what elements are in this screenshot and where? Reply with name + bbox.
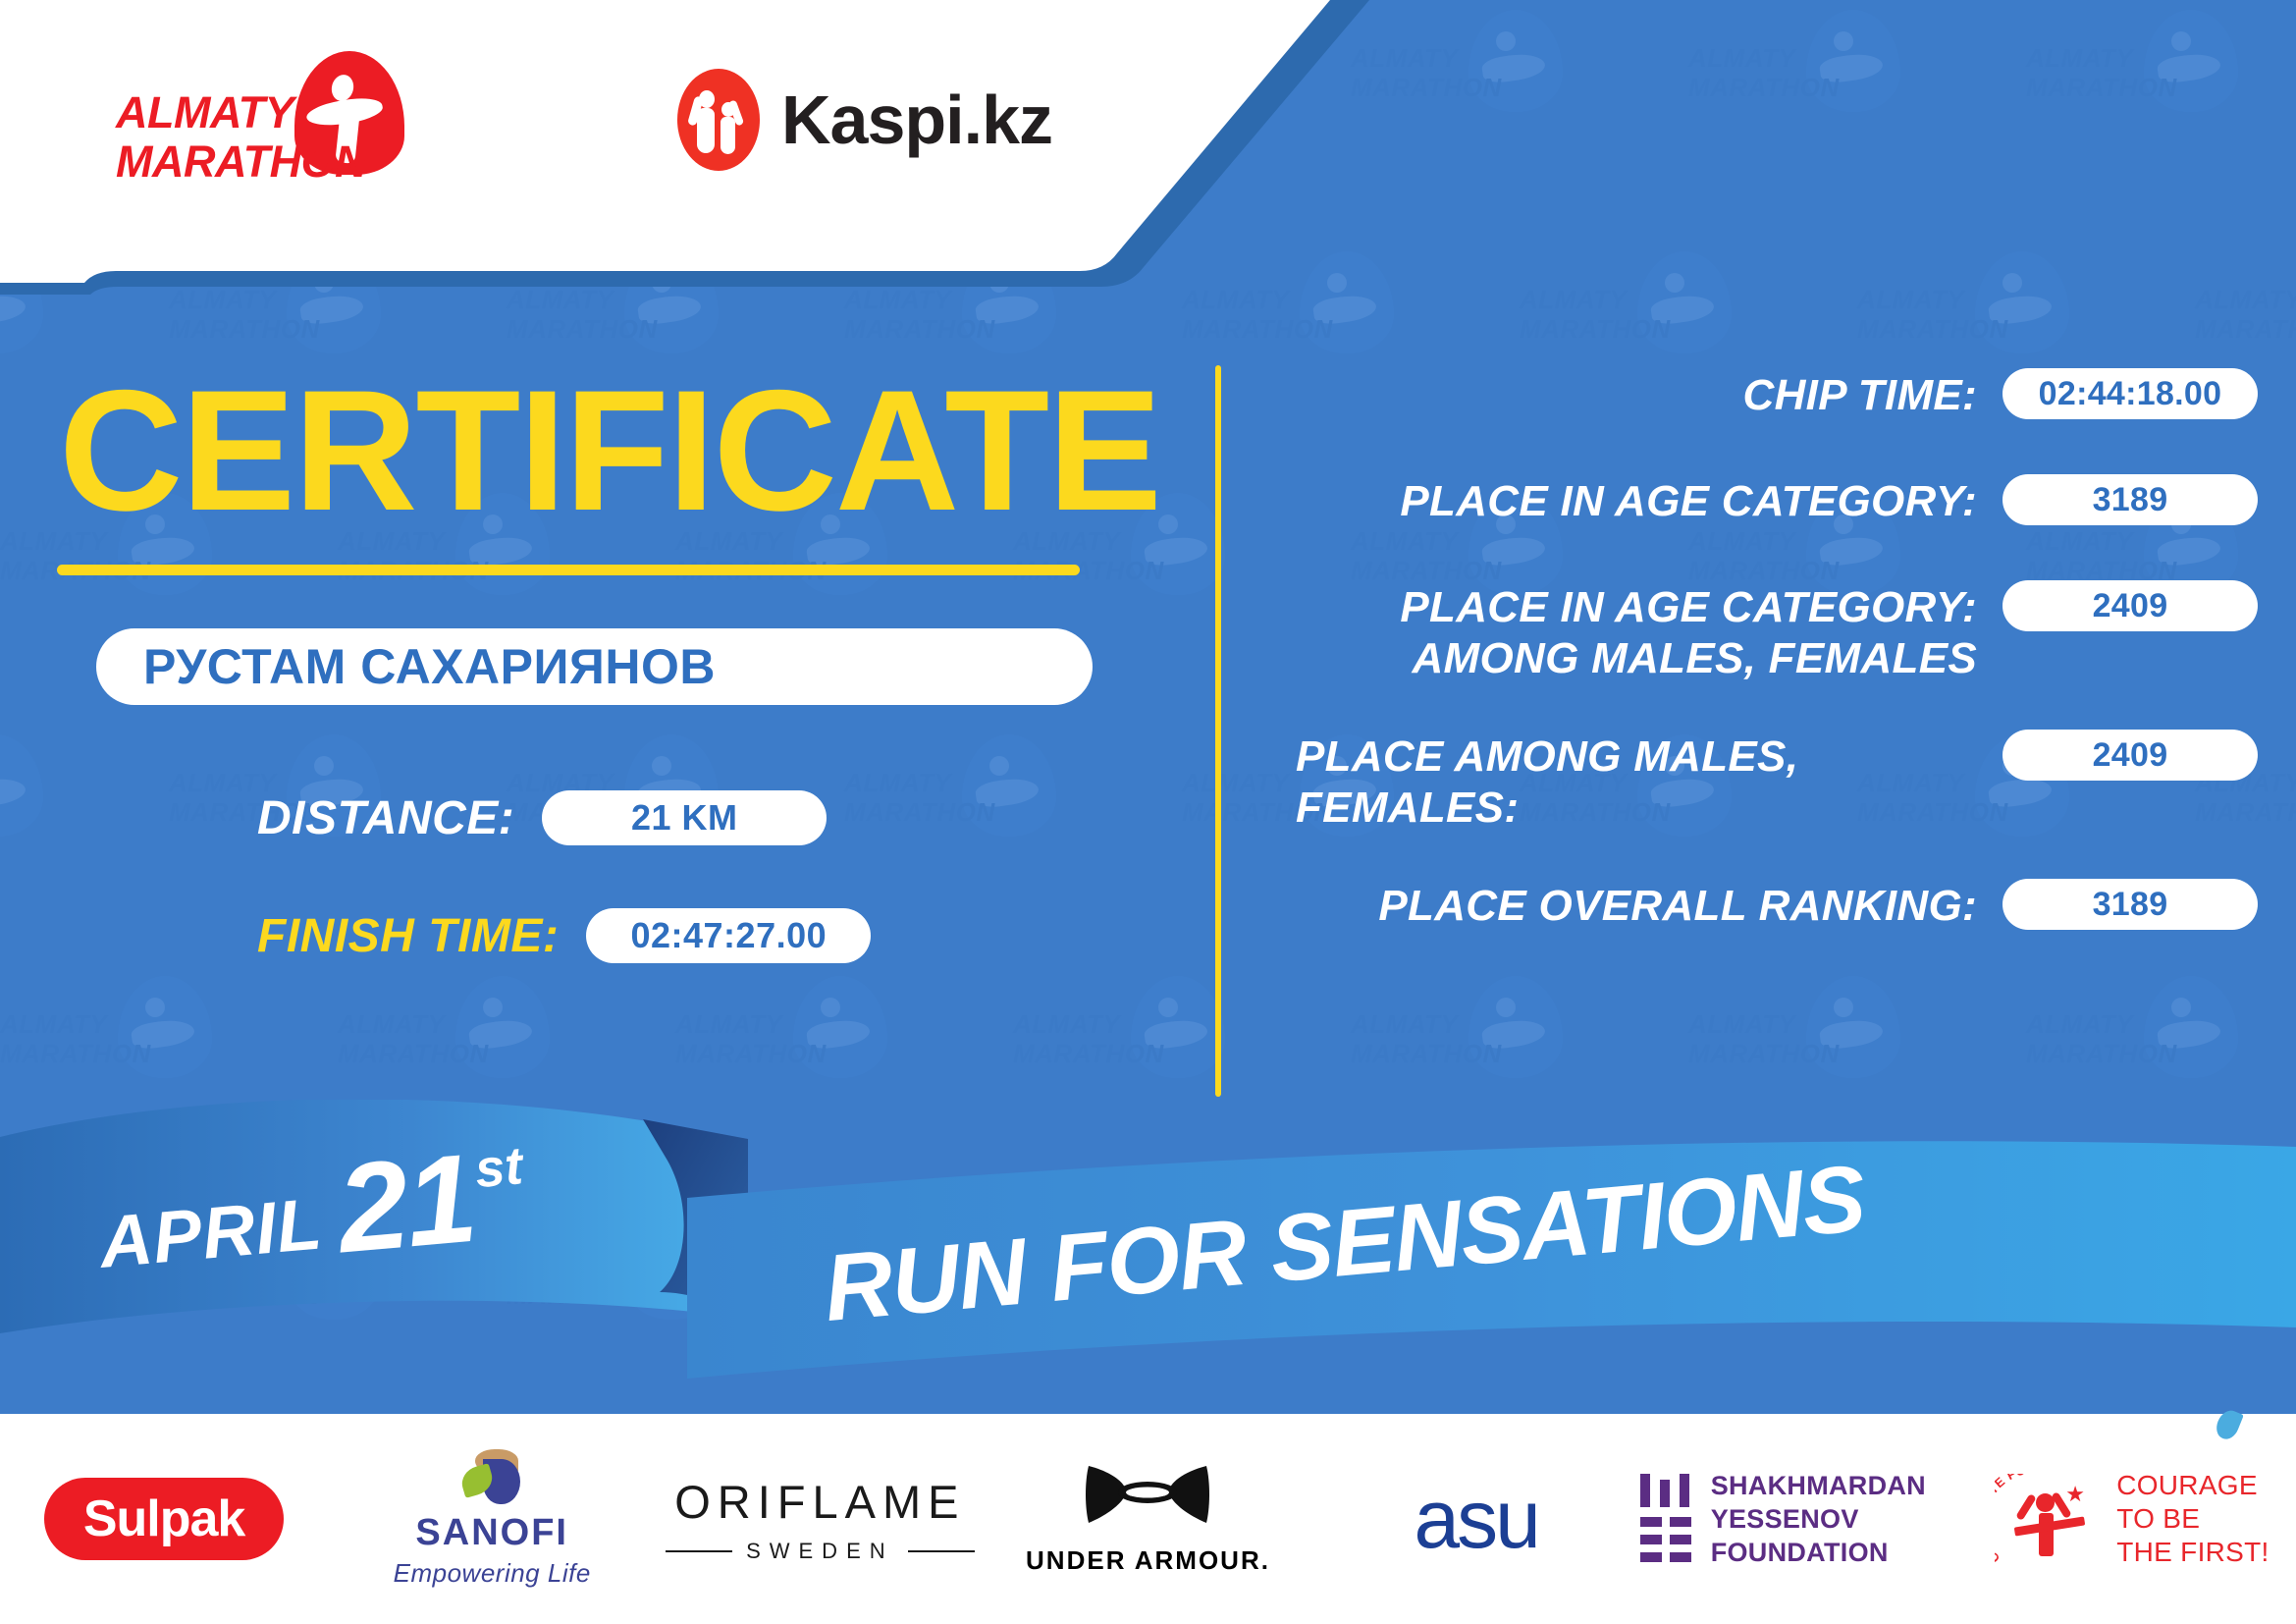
under-armour-logo: UNDER ARMOUR. [1026, 1462, 1270, 1576]
under-armour-mark-icon [1083, 1462, 1212, 1533]
sulpak-logo: Sulpak [44, 1478, 285, 1560]
watermark-text: ALMATYMARATHON [844, 768, 991, 827]
participant-name-field: РУСТАМ САХАРИЯНОВ [96, 628, 1093, 705]
oriflame-sub-label: SWEDEN [746, 1539, 894, 1564]
yessenov-foundation-logo: SHAKHMARDAN YESSENOV FOUNDATION [1640, 1469, 1968, 1569]
sponsor-under-armour: UNDER ARMOUR. [984, 1450, 1311, 1588]
sanofi-logo: SANOFI Empowering Life [394, 1449, 591, 1589]
watermark-text: ALMATYMARATHON [1351, 1009, 1498, 1068]
watermark-text: ALMATYMARATHON [1520, 285, 1667, 344]
place-age-category-value: 3189 [2093, 481, 2168, 519]
sanofi-tagline: Empowering Life [394, 1558, 591, 1589]
watermark-text: ALMATYMARATHON [2195, 1251, 2296, 1310]
courage-line-3: THE FIRST! [2116, 1536, 2269, 1569]
stat-row-place-age-category: PLACE IN AGE CATEGORY: 3189 [1266, 474, 2258, 535]
title-underline-rule [57, 565, 1080, 575]
watermark-text: ALMATYMARATHON [1688, 43, 1836, 102]
place-age-category-gender-value-pill: 2409 [2002, 580, 2258, 631]
participant-name-value: РУСТАМ САХАРИЯНОВ [96, 638, 716, 695]
watermark-tile: ALMATYMARATHON [0, 725, 169, 966]
oriflame-rule-left [666, 1550, 732, 1552]
courage-line-1: COURAGE [2116, 1469, 2269, 1502]
watermark-text: ALMATYMARATHON [2026, 43, 2173, 102]
watermark-tile: ALMATYMARATHON [507, 1208, 844, 1414]
sanofi-wordmark: SANOFI [394, 1512, 591, 1554]
finish-time-label: FINISH TIME: [257, 909, 559, 963]
page-title: CERTIFICATE [59, 368, 1160, 535]
courage-line-2: TO BE [2116, 1502, 2269, 1536]
event-month: APRIL [96, 1181, 326, 1283]
finish-time-row: FINISH TIME: 02:47:27.00 [257, 908, 871, 963]
courage-wordmark: COURAGE TO BE THE FIRST! [2116, 1469, 2269, 1569]
column-divider [1215, 365, 1221, 1097]
almaty-marathon-logo: ALMATY MARATHON [116, 61, 430, 189]
yessenov-mark-icon [1640, 1474, 1689, 1564]
watermark-tile: ALMATYMARATHON [1013, 966, 1351, 1208]
place-age-category-label: PLACE IN AGE CATEGORY: [1266, 474, 2002, 527]
stat-row-place-overall: PLACE OVERALL RANKING: 3189 [1266, 879, 2258, 940]
kaspi-wordmark: Kaspi.kz [781, 81, 1052, 159]
watermark-text: ALMATYMARATHON [675, 1009, 823, 1068]
stat-row-place-among-gender: PLACE AMONG MALES, FEMALES: 2409 [1266, 730, 2258, 834]
chip-time-value: 02:44:18.00 [2039, 375, 2222, 413]
distance-row: DISTANCE: 21 KM [257, 790, 827, 845]
watermark-tile: ALMATYMARATHON [844, 725, 1182, 966]
watermark-tile: ALMATYMARATHON [1857, 1208, 2195, 1414]
place-age-category-gender-label: PLACE IN AGE CATEGORY: AMONG MALES, FEMA… [1266, 580, 2002, 684]
yessenov-line-1: SHAKHMARDAN YESSENOV [1711, 1469, 1968, 1536]
watermark-tile: ALMATYMARATHON [1688, 0, 2026, 242]
oriflame-rule-right [908, 1550, 975, 1552]
header-logo-row: ALMATY MARATHON Kaspi.kz [0, 0, 1315, 260]
oriflame-wordmark: ORIFLAME [666, 1475, 975, 1529]
yessenov-wordmark: SHAKHMARDAN YESSENOV FOUNDATION [1711, 1469, 1968, 1569]
asu-wordmark: asu [1414, 1472, 1537, 1567]
almaty-line-2: MARATHON [116, 137, 366, 187]
stat-row-chip-time: CHIP TIME: 02:44:18.00 [1266, 368, 2258, 429]
place-among-gender-value-pill: 2409 [2002, 730, 2258, 781]
event-day-suffix: st [472, 1135, 524, 1200]
yessenov-line-2: FOUNDATION [1711, 1536, 1968, 1569]
watermark-text: ALMATYMARATHON [0, 1009, 147, 1068]
sponsor-strip: Sulpak SANOFI Empowering Life ORIFLAME S… [0, 1414, 2296, 1624]
sponsor-asu: asu [1312, 1450, 1640, 1588]
kaspi-logo: Kaspi.kz [677, 69, 1052, 171]
sponsor-sulpak: Sulpak [0, 1450, 328, 1588]
almaty-marathon-wordmark: ALMATY MARATHON [116, 88, 366, 187]
distance-value-pill: 21 KM [542, 790, 827, 845]
certificate-card: ALMATYMARATHONALMATYMARATHONALMATYMARATH… [0, 0, 2296, 1624]
watermark-tile: ALMATYMARATHON [2026, 966, 2296, 1208]
under-armour-wordmark: UNDER ARMOUR. [1026, 1545, 1270, 1576]
watermark-text: ALMATYMARATHON [2195, 285, 2296, 344]
oriflame-sub-row: SWEDEN [666, 1539, 975, 1564]
distance-value: 21 KM [631, 797, 738, 839]
finish-time-value-pill: 02:47:27.00 [586, 908, 871, 963]
place-overall-value: 3189 [2093, 886, 2168, 924]
courage-mark-icon: CORPORATE FUND ★ [1995, 1468, 2101, 1570]
watermark-runner-icon [0, 734, 43, 837]
watermark-tile: ALMATYMARATHON [1351, 0, 1688, 242]
watermark-tile: ALMATYMARATHON [2195, 1208, 2296, 1414]
event-day: 21 [334, 1140, 479, 1270]
watermark-runner-icon [0, 1218, 43, 1320]
sanofi-mark-icon [454, 1449, 530, 1506]
finish-time-value: 02:47:27.00 [630, 915, 827, 956]
stat-row-place-age-category-gender: PLACE IN AGE CATEGORY: AMONG MALES, FEMA… [1266, 580, 2258, 684]
distance-label: DISTANCE: [257, 791, 514, 845]
sponsor-sanofi: SANOFI Empowering Life [328, 1450, 656, 1588]
watermark-tile: ALMATYMARATHON [675, 966, 1013, 1208]
watermark-tile: ALMATYMARATHON [2026, 0, 2296, 242]
watermark-text: ALMATYMARATHON [507, 1251, 654, 1310]
certificate-stats-column: CHIP TIME: 02:44:18.00 PLACE IN AGE CATE… [1266, 368, 2258, 985]
place-age-category-gender-value: 2409 [2093, 587, 2168, 625]
oriflame-logo: ORIFLAME SWEDEN [666, 1475, 975, 1564]
place-among-gender-label: PLACE AMONG MALES, FEMALES: [1266, 730, 2002, 834]
watermark-text: ALMATYMARATHON [2026, 1009, 2173, 1068]
watermark-text: ALMATYMARATHON [1857, 1251, 2004, 1310]
sponsor-yessenov-foundation: SHAKHMARDAN YESSENOV FOUNDATION [1640, 1450, 1968, 1588]
place-overall-value-pill: 3189 [2002, 879, 2258, 930]
place-among-gender-value: 2409 [2093, 736, 2168, 775]
sponsor-courage-to-be-the-first: CORPORATE FUND ★ COURAGE TO BE THE FIRST… [1968, 1450, 2296, 1588]
chip-time-value-pill: 02:44:18.00 [2002, 368, 2258, 419]
place-age-category-value-pill: 3189 [2002, 474, 2258, 525]
courage-to-be-the-first-logo: CORPORATE FUND ★ COURAGE TO BE THE FIRST… [1995, 1468, 2269, 1570]
sponsor-oriflame: ORIFLAME SWEDEN [656, 1450, 984, 1588]
place-overall-label: PLACE OVERALL RANKING: [1266, 879, 2002, 932]
almaty-line-1: ALMATY [116, 88, 366, 137]
watermark-text: ALMATYMARATHON [1013, 1009, 1160, 1068]
kaspi-two-people-icon [677, 69, 760, 171]
chip-time-label: CHIP TIME: [1266, 368, 2002, 421]
watermark-text: ALMATYMARATHON [1688, 1009, 1836, 1068]
watermark-text: ALMATYMARATHON [1857, 285, 2004, 344]
watermark-text: ALMATYMARATHON [338, 1009, 485, 1068]
asu-logo: asu [1414, 1472, 1537, 1567]
